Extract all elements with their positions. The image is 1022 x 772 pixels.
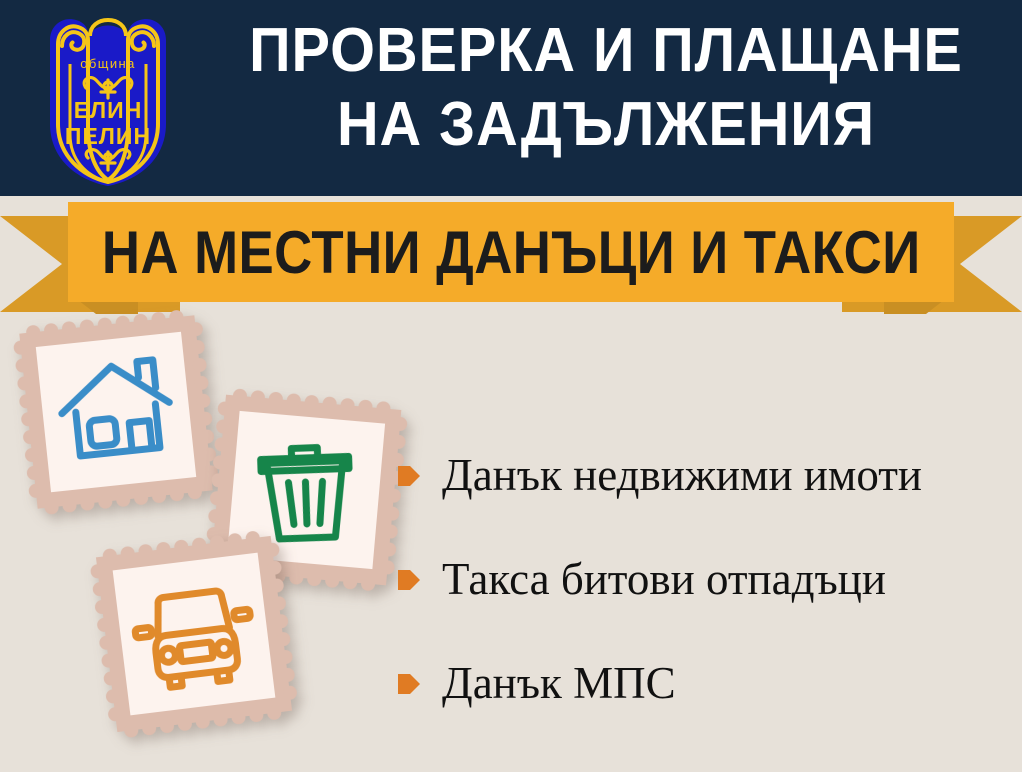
svg-text:община: община	[80, 56, 135, 71]
list-item: Данък недвижими имоти	[398, 424, 1010, 528]
header-banner: община ЕЛИН ПЕЛИН	[0, 0, 1022, 196]
list-item-label: Данък МПС	[442, 660, 676, 707]
list-item-label: Такса битови отпадъци	[442, 556, 886, 603]
stamp-card-car	[85, 525, 303, 743]
ribbon-banner: НА МЕСТНИ ДАНЪЦИ И ТАКСИ	[0, 196, 1022, 314]
page-title-line-2: НА ЗАДЪЛЖЕНИЯ	[225, 88, 988, 162]
tax-type-list: Данък недвижими имоти Такса битови отпад…	[398, 424, 1010, 736]
header-title-group: ПРОВЕРКА И ПЛАЩАНЕ НА ЗАДЪЛЖЕНИЯ	[196, 14, 1016, 162]
ribbon-band: НА МЕСТНИ ДАНЪЦИ И ТАКСИ	[68, 202, 954, 302]
ribbon-subtitle: НА МЕСТНИ ДАНЪЦИ И ТАКСИ	[102, 218, 921, 287]
arrow-bullet-icon	[398, 671, 420, 697]
svg-text:ЕЛИН: ЕЛИН	[74, 97, 143, 123]
list-item: Данък МПС	[398, 632, 1010, 736]
list-item: Такса битови отпадъци	[398, 528, 1010, 632]
list-item-label: Данък недвижими имоти	[442, 452, 922, 499]
arrow-bullet-icon	[398, 463, 420, 489]
poster-root: община ЕЛИН ПЕЛИН	[0, 0, 1022, 772]
stamp-card-house	[8, 304, 223, 519]
svg-text:ПЕЛИН: ПЕЛИН	[65, 123, 151, 149]
arrow-bullet-icon	[398, 567, 420, 593]
page-title-line-1: ПРОВЕРКА И ПЛАЩАНЕ	[225, 14, 988, 88]
municipality-crest-icon: община ЕЛИН ПЕЛИН	[28, 6, 188, 192]
